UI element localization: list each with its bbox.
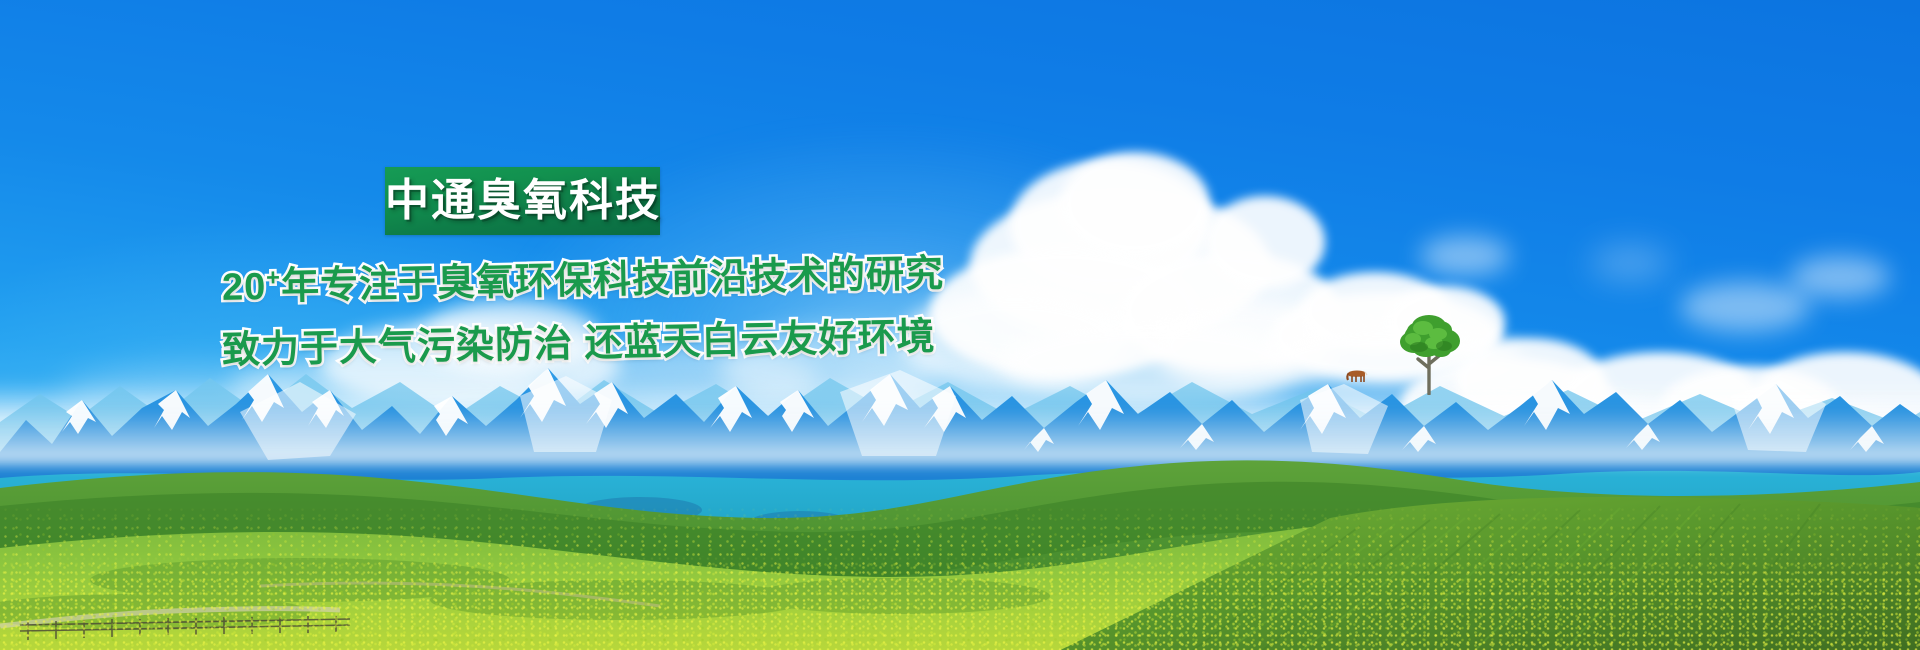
- company-name-plate: 中通臭氧科技: [385, 167, 660, 235]
- tagline-1-plus-superscript: +: [266, 264, 281, 290]
- tagline-2-text: 致力于大气污染防治 还蓝天白云友好环境: [222, 316, 936, 372]
- tagline-1-text: 年专注于臭氧环保科技前沿技术的研究: [281, 253, 945, 308]
- company-name: 中通臭氧科技: [385, 179, 660, 223]
- tagline-line-1: 20+年专注于臭氧环保科技前沿技术的研究: [222, 255, 945, 307]
- banner-copy: 中通臭氧科技 20+年专注于臭氧环保科技前沿技术的研究 致力于大气污染防治 还蓝…: [0, 0, 1920, 650]
- tagline-1-years: 20: [222, 266, 267, 309]
- hero-banner: 中通臭氧科技 20+年专注于臭氧环保科技前沿技术的研究 致力于大气污染防治 还蓝…: [0, 0, 1920, 650]
- tagline-line-2: 致力于大气污染防治 还蓝天白云友好环境: [222, 318, 936, 370]
